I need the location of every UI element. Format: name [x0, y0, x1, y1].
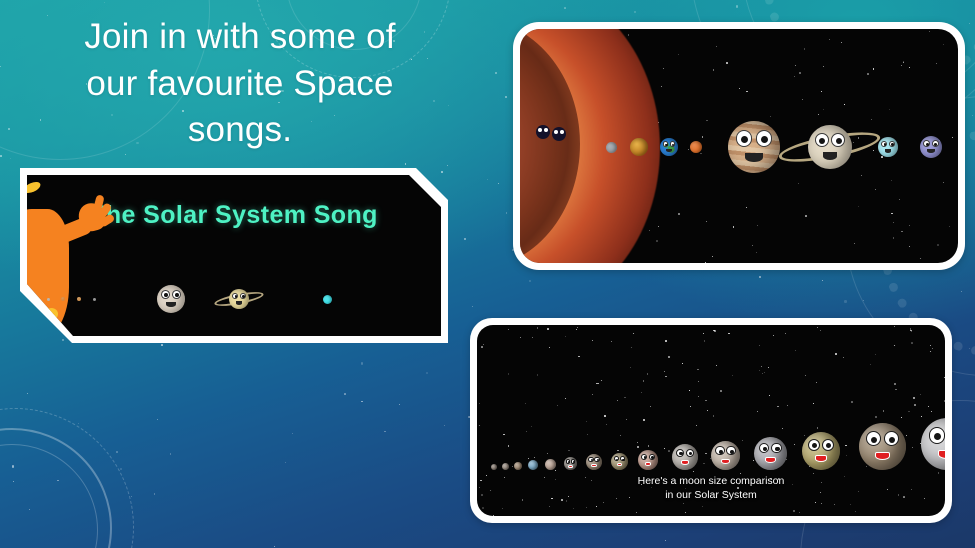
heading-line-1: Join in with some of [36, 14, 444, 61]
planet-body [77, 297, 81, 301]
planet-body [61, 297, 65, 301]
moon-15 [921, 418, 945, 470]
orbit-ring-bottomleft-dashed [0, 408, 134, 548]
planet-body [808, 125, 852, 169]
planet-body [660, 138, 678, 156]
planet-jupiter [728, 121, 780, 173]
moon-1 [491, 464, 497, 470]
moon-12 [754, 437, 787, 470]
moon-3 [514, 462, 522, 470]
planet-neptune [920, 136, 942, 158]
slide-canvas: Join in with some of our favourite Space… [0, 0, 975, 548]
video-thumbnail-planets[interactable] [513, 22, 965, 270]
planet-body [728, 121, 780, 173]
song-thumbnail-inner: The Solar System Song [27, 175, 441, 336]
moon-13 [802, 432, 840, 470]
page-title: Join in with some of our favourite Space… [36, 14, 444, 154]
planet-venus [61, 297, 65, 301]
heading-line-2: our favourite Space [36, 61, 444, 108]
planet-body [93, 298, 96, 301]
moon-5 [545, 459, 556, 470]
moon-caption-line-1: Here's a moon size comparison [638, 475, 785, 487]
planets-thumbnail-inner [520, 29, 958, 263]
planet-body [690, 141, 702, 153]
planet-body [606, 142, 617, 153]
planet-body [920, 136, 942, 158]
planet-saturn [229, 289, 249, 309]
moon-4 [528, 460, 538, 470]
planet-jupiter [157, 285, 185, 313]
planet-mercury [47, 298, 50, 301]
moon-6 [564, 457, 577, 470]
planet-mercury [606, 142, 617, 153]
planet-uranus [878, 137, 898, 157]
planet-body [47, 298, 50, 301]
video-thumbnail-solar-system-song[interactable]: The Solar System Song [20, 168, 448, 343]
moon-11 [711, 441, 740, 470]
inner-moon-1 [536, 125, 550, 139]
planet-venus [630, 138, 648, 156]
moon-caption: Here's a moon size comparison in our Sol… [477, 474, 945, 502]
planet-body [630, 138, 648, 156]
planet-mars [690, 141, 702, 153]
planet-body [229, 289, 249, 309]
inner-moon-2 [552, 127, 566, 141]
heading-line-3: songs. [36, 107, 444, 154]
video-thumbnail-moon-comparison[interactable]: Here's a moon size comparison in our Sol… [470, 318, 952, 523]
planet-mars [93, 298, 96, 301]
planet-earth [660, 138, 678, 156]
moon-caption-line-2: in our Solar System [477, 488, 945, 502]
moon-2 [502, 463, 509, 470]
planet-body [323, 295, 332, 304]
moon-7 [586, 454, 602, 470]
planet-uranus [323, 295, 332, 304]
planet-saturn [808, 125, 852, 169]
planet-body [878, 137, 898, 157]
planet-earth [77, 297, 81, 301]
moons-thumbnail-inner: Here's a moon size comparison in our Sol… [477, 325, 945, 516]
moon-10 [672, 444, 698, 470]
planet-body [157, 285, 185, 313]
moon-8 [611, 453, 628, 470]
moon-14 [859, 423, 906, 470]
moon-9 [638, 450, 658, 470]
